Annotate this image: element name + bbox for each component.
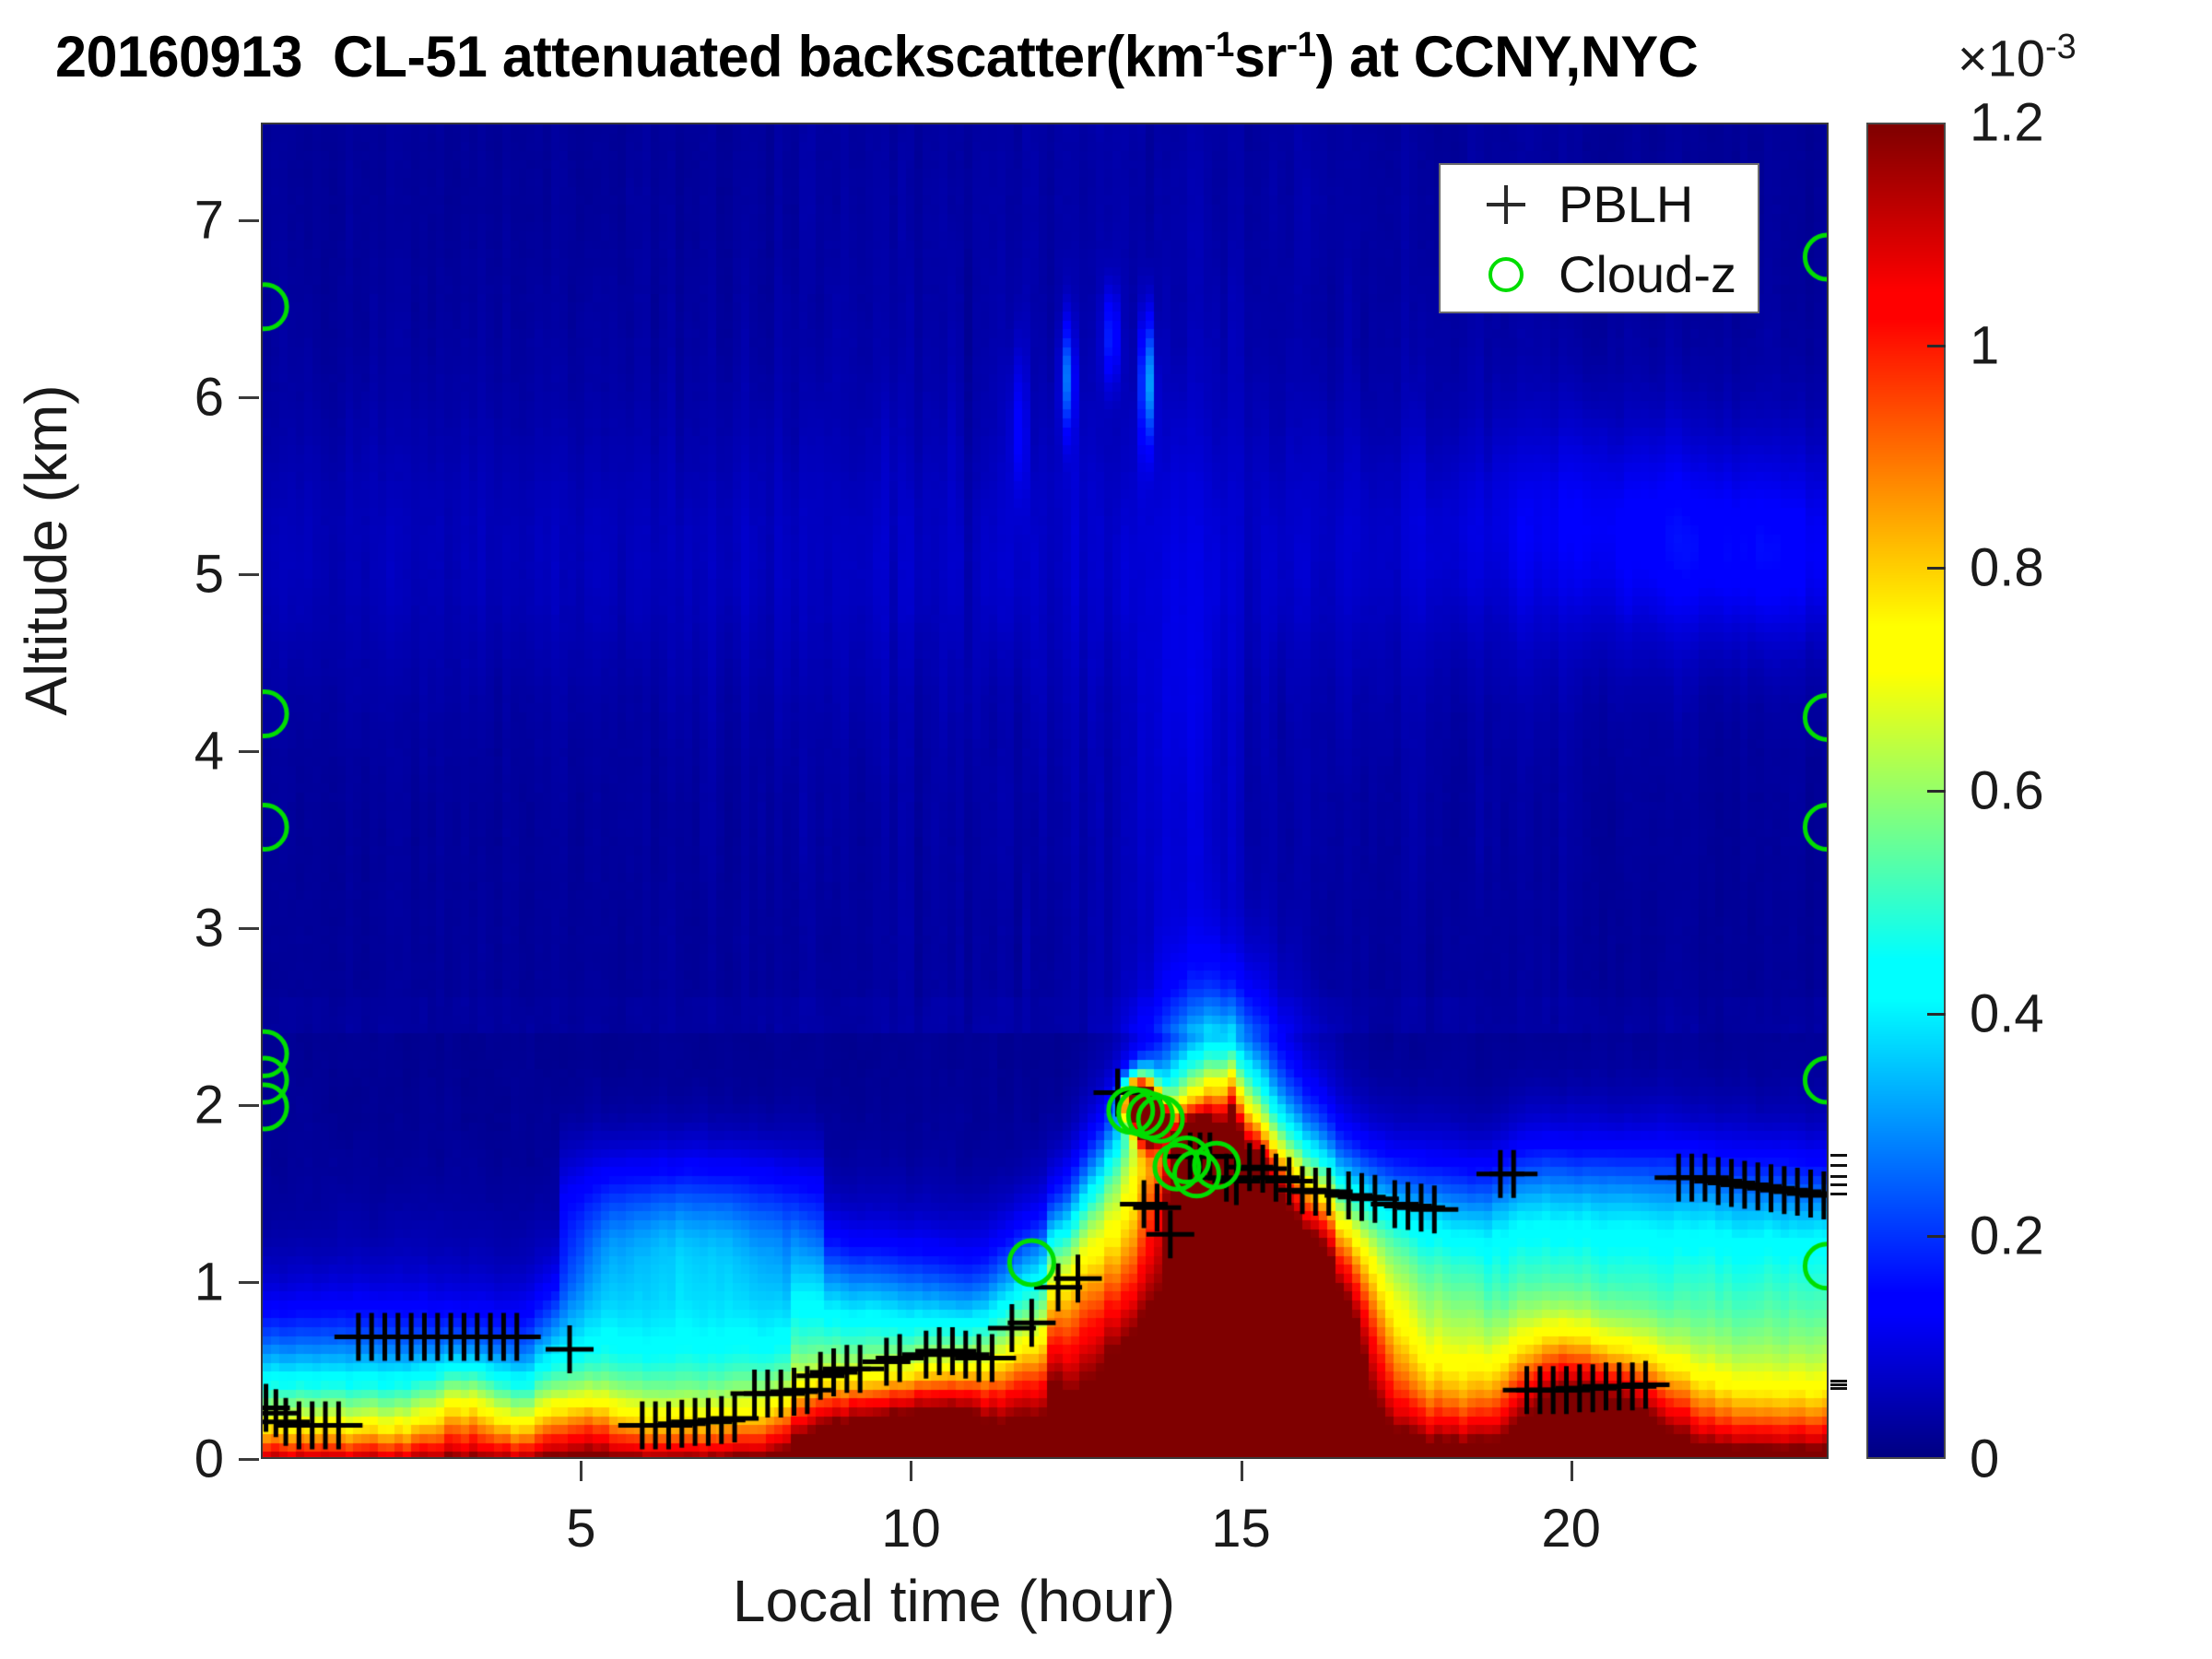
plot-area[interactable] <box>261 123 1829 1459</box>
legend-item-pblh: PBLH <box>1441 172 1758 237</box>
x-tick-5 <box>580 1461 582 1481</box>
colorbar-label-0.4: 0.4 <box>1970 982 2044 1044</box>
y-tick-label-6: 6 <box>113 366 224 428</box>
pblh-edge-mark <box>1830 1193 1847 1195</box>
y-tick-6 <box>239 396 259 399</box>
y-tick-label-5: 5 <box>113 543 224 605</box>
title-site: at CCNY,NYC <box>1349 25 1698 89</box>
colorbar-tick-1 <box>1927 345 1946 347</box>
colorbar-label-0.6: 0.6 <box>1970 760 2044 822</box>
x-tick-label-20: 20 <box>1507 1498 1636 1559</box>
y-tick-7 <box>239 219 259 222</box>
marker-overlay <box>263 124 1829 1459</box>
colorbar-label-1: 1 <box>1970 314 1999 376</box>
y-tick-2 <box>239 1104 259 1107</box>
x-tick-label-10: 10 <box>846 1498 975 1559</box>
title-unit-close: ) <box>1316 25 1335 89</box>
y-tick-0 <box>239 1458 259 1461</box>
y-tick-label-7: 7 <box>113 189 224 251</box>
title-instrument: CL-51 <box>333 25 487 89</box>
colorbar-tick-0.6 <box>1927 790 1946 793</box>
legend-item-cloudz: Cloud-z <box>1441 242 1758 307</box>
colorbar-tick-0.4 <box>1927 1013 1946 1016</box>
title-unit-km-exp: -1 <box>1205 26 1234 65</box>
pblh-edge-mark <box>1830 1387 1847 1390</box>
y-tick-label-3: 3 <box>113 897 224 959</box>
y-tick-1 <box>239 1281 259 1284</box>
x-tick-10 <box>910 1461 912 1481</box>
title-unit-km: km <box>1124 25 1205 89</box>
x-tick-15 <box>1241 1461 1243 1481</box>
colorbar-label-1.2: 1.2 <box>1970 92 2044 154</box>
x-tick-20 <box>1571 1461 1573 1481</box>
colorbar-label-0.8: 0.8 <box>1970 537 2044 599</box>
legend-label-pblh: PBLH <box>1559 172 1693 237</box>
colorbar-label-0: 0 <box>1970 1429 1999 1490</box>
y-tick-4 <box>239 750 259 753</box>
circle-icon <box>1474 242 1538 307</box>
y-tick-label-1: 1 <box>113 1251 224 1312</box>
legend-box[interactable]: PBLH Cloud-z <box>1439 163 1759 313</box>
y-tick-3 <box>239 927 259 930</box>
pblh-edge-mark <box>1830 1380 1847 1382</box>
y-tick-label-4: 4 <box>113 720 224 782</box>
title-unit-open: ( <box>1106 25 1124 89</box>
x-tick-label-15: 15 <box>1177 1498 1306 1559</box>
x-axis-label: Local time (hour) <box>0 1567 1908 1635</box>
title-unit-sr: sr <box>1234 25 1287 89</box>
figure-title: 20160913 CL-51 attenuated backscatter(km… <box>55 24 1698 90</box>
y-tick-label-0: 0 <box>113 1429 224 1490</box>
title-date: 20160913 <box>55 25 302 89</box>
legend-label-cloudz: Cloud-z <box>1559 242 1736 307</box>
colorbar-label-0.2: 0.2 <box>1970 1206 2044 1267</box>
colorbar-tick-0.8 <box>1927 567 1946 570</box>
pblh-edge-mark <box>1830 1383 1847 1386</box>
colorbar-tick-0.2 <box>1927 1235 1946 1238</box>
title-unit-sr-exp: -1 <box>1287 26 1316 65</box>
figure-root: 20160913 CL-51 attenuated backscatter(km… <box>0 0 2212 1659</box>
plus-icon <box>1474 172 1538 237</box>
pblh-edge-mark <box>1830 1164 1847 1167</box>
x-tick-label-5: 5 <box>516 1498 645 1559</box>
pblh-edge-mark <box>1830 1154 1847 1157</box>
colorbar-exponent: ×10-3 <box>1958 28 2077 88</box>
colorbar-exponent-power: -3 <box>2045 28 2077 66</box>
y-axis-label: Altitude (km) <box>12 292 80 808</box>
y-tick-label-2: 2 <box>113 1074 224 1135</box>
title-quantity: attenuated backscatter <box>502 25 1106 89</box>
pblh-edge-mark <box>1830 1175 1847 1178</box>
pblh-edge-mark <box>1830 1183 1847 1186</box>
y-tick-5 <box>239 573 259 576</box>
colorbar-exponent-base: ×10 <box>1958 29 2045 88</box>
